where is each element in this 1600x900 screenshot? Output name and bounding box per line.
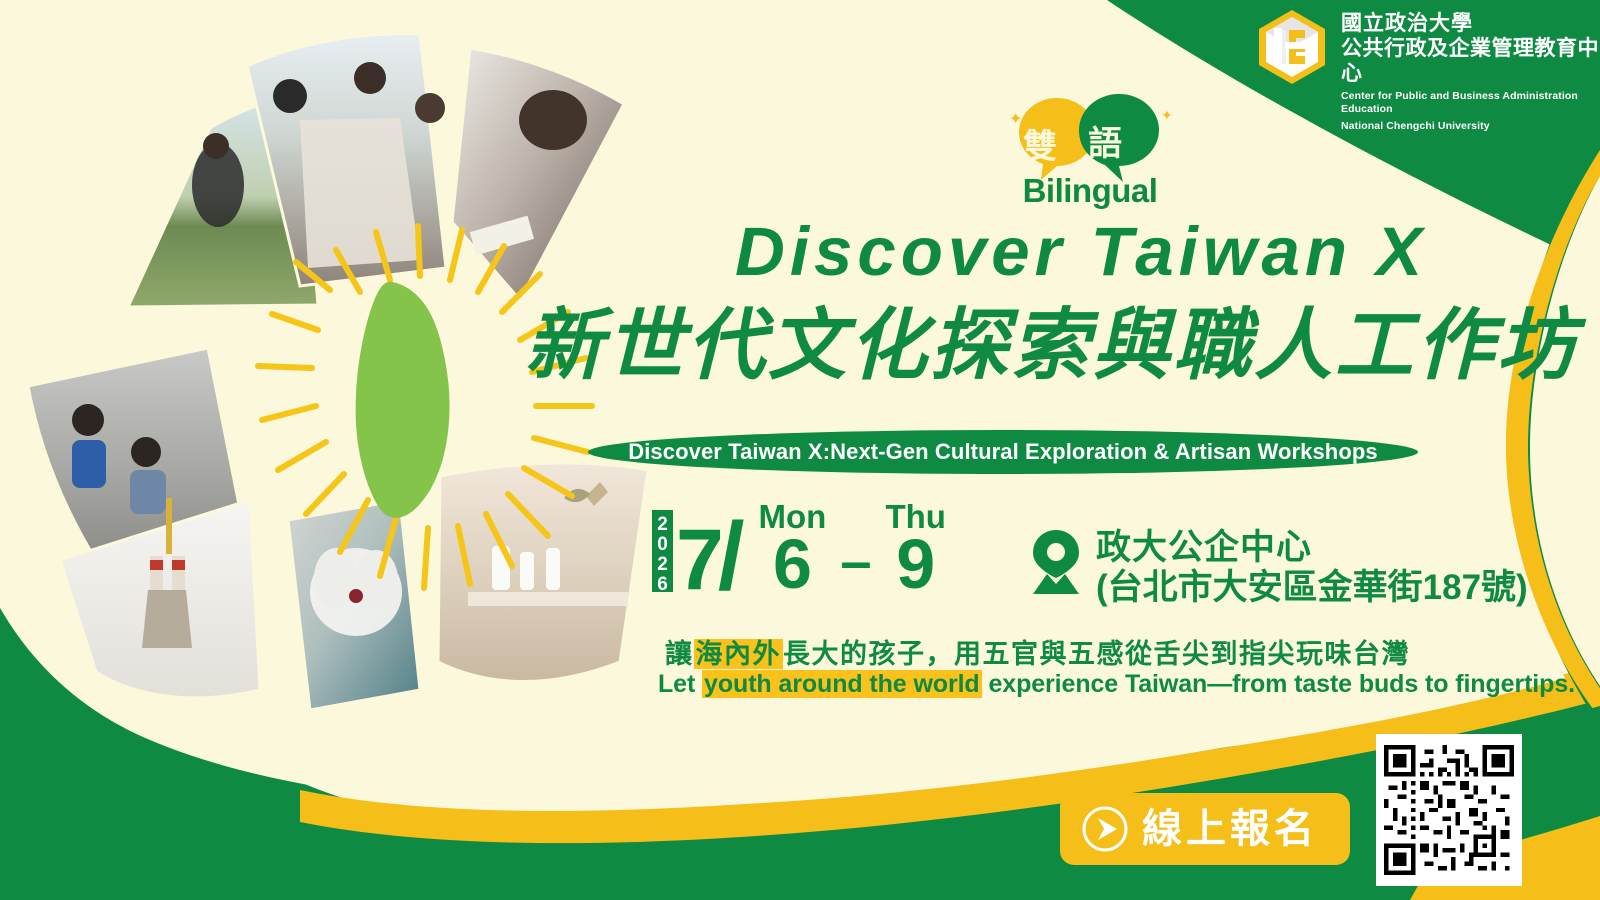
brand-cn-line-2: 公共行政及企業管理教育中心 — [1341, 36, 1600, 86]
online-registration-label: 線上報名 — [1142, 809, 1318, 849]
event-year: 2026 — [652, 510, 673, 592]
nccu-hexagon-logo — [1255, 8, 1329, 86]
taiwan-map-silhouette — [356, 282, 450, 518]
bilingual-badge: ✦ ✦ 雙 語 Bilingual — [995, 92, 1185, 222]
day-range-dash: – — [840, 526, 871, 596]
tagline-english: Let youth around the world experience Ta… — [658, 670, 1575, 699]
location-pin-icon — [1030, 528, 1082, 594]
end-day-number: 9 — [896, 533, 935, 596]
brand-cn-line-1: 國立政治大學 — [1341, 12, 1600, 36]
tagline-en-highlight: youth around the world — [702, 670, 982, 698]
subtitle-text: Discover Taiwan X:Next-Gen Cultural Expl… — [588, 430, 1418, 474]
event-date-block: 2026 7 / Mon 6 – Thu 9 — [652, 500, 946, 596]
brand-text-block: 國立政治大學 公共行政及企業管理教育中心 Center for Public a… — [1341, 8, 1600, 133]
tagline-en-after: experience Taiwan—from taste buds to fin… — [982, 670, 1575, 698]
venue-address: (台北市大安區金華街187號) — [1096, 568, 1528, 608]
event-month: 7 — [676, 525, 724, 596]
start-day-number: 6 — [773, 533, 812, 596]
tagline-cn-before: 讓 — [665, 639, 694, 669]
tagline-cn-highlight: 海內外 — [694, 639, 784, 669]
event-day-range: Mon 6 – Thu 9 — [759, 500, 946, 596]
subtitle-banner: Discover Taiwan X:Next-Gen Cultural Expl… — [588, 430, 1418, 474]
online-registration-button[interactable]: 線上報名 — [1060, 793, 1350, 865]
photo-calligraphy-writing — [452, 48, 624, 300]
tagline-chinese: 讓海內外長大的孩子，用五官與五感從舌尖到指尖玩味台灣 — [665, 632, 1410, 671]
title-english: Discover Taiwan X — [735, 212, 1427, 291]
tagline-en-before: Let — [658, 670, 702, 698]
brand-en-line-1: Center for Public and Business Administr… — [1341, 90, 1600, 116]
venue-name: 政大公企中心 — [1096, 528, 1528, 568]
title-chinese: 新世代文化探索與職人工作坊 — [525, 306, 1578, 384]
venue-block: 政大公企中心 (台北市大安區金華街187號) — [1030, 528, 1528, 608]
bilingual-word: Bilingual — [995, 172, 1185, 210]
poster-canvas: 國立政治大學 公共行政及企業管理教育中心 Center for Public a… — [0, 0, 1600, 900]
day-range-row: Mon 6 – Thu 9 — [759, 500, 946, 596]
play-circle-icon — [1082, 806, 1128, 852]
bilingual-char-shuang: 雙 — [1023, 119, 1057, 168]
qr-code-graphic — [1384, 742, 1514, 878]
end-day-group: Thu 9 — [885, 500, 945, 596]
date-slash: / — [718, 519, 745, 596]
tagline-cn-after: 長大的孩子，用五官與五感從舌尖到指尖玩味台灣 — [783, 639, 1410, 669]
brand-en-line-2: National Chengchi University — [1341, 120, 1600, 133]
start-day-group: Mon 6 — [759, 500, 827, 596]
bilingual-char-yu: 語 — [1088, 116, 1122, 165]
brand-lockup: 國立政治大學 公共行政及企業管理教育中心 Center for Public a… — [1255, 8, 1600, 133]
sparkle-icon-left: ✦ — [1009, 111, 1022, 128]
venue-text: 政大公企中心 (台北市大安區金華街187號) — [1096, 528, 1528, 608]
sparkle-icon-right: ✦ — [1161, 107, 1173, 123]
registration-qr-code[interactable] — [1376, 734, 1522, 886]
